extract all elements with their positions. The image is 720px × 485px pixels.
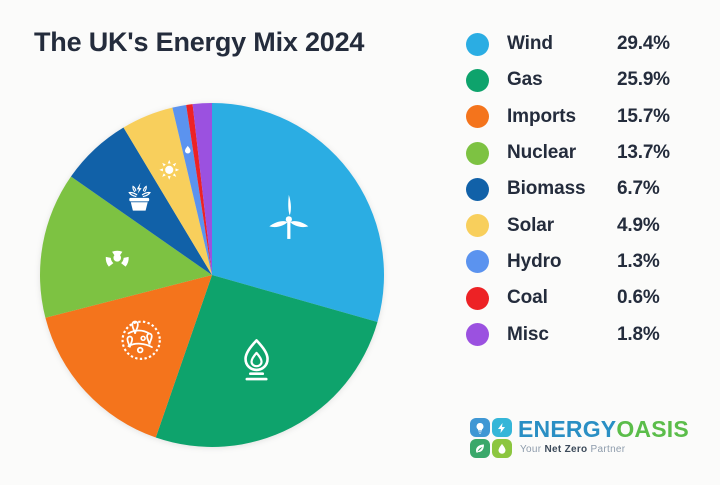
legend-label-solar: Solar [507, 215, 554, 237]
legend-swatch-solar [466, 214, 489, 237]
pie-slice-group: Wind 29.4%Gas 25.9%Imports 15.7%Nuclear … [40, 103, 384, 447]
legend-item-imports[interactable]: Imports 15.7% [466, 99, 706, 135]
legend-value-hydro: 1.3% [617, 251, 660, 273]
legend-label-hydro: Hydro [507, 251, 561, 273]
pie-chart-svg: Wind 29.4%Gas 25.9%Imports 15.7%Nuclear … [33, 96, 391, 454]
legend-item-nuclear[interactable]: Nuclear 13.7% [466, 135, 706, 171]
legend-value-gas: 25.9% [617, 69, 670, 91]
legend-item-wind[interactable]: Wind 29.4% [466, 26, 706, 62]
legend-item-solar[interactable]: Solar 4.9% [466, 207, 706, 243]
page-title: The UK's Energy Mix 2024 [34, 27, 364, 58]
energy-mix-infographic: The UK's Energy Mix 2024 Wind 29.4%Gas 2… [0, 0, 720, 485]
legend-label-nuclear: Nuclear [507, 142, 576, 164]
legend-label-gas: Gas [507, 69, 543, 91]
legend-swatch-wind [466, 33, 489, 56]
legend-swatch-nuclear [466, 142, 489, 165]
legend-value-imports: 15.7% [617, 106, 670, 128]
bulb-tile-icon [470, 418, 490, 437]
legend-label-coal: Coal [507, 287, 548, 309]
tagline-bold: Net Zero [544, 444, 587, 455]
pie-chart: Wind 29.4%Gas 25.9%Imports 15.7%Nuclear … [33, 96, 391, 454]
leaf-tile-icon [470, 439, 490, 458]
logo-wordmark: ENERGYOASIS [518, 416, 689, 443]
legend-item-coal[interactable]: Coal 0.6% [466, 280, 706, 316]
legend-swatch-gas [466, 69, 489, 92]
legend-swatch-misc [466, 323, 489, 346]
logo-tagline: Your Net Zero Partner [520, 444, 625, 455]
legend-item-biomass[interactable]: Biomass 6.7% [466, 171, 706, 207]
drop-tile-icon [492, 439, 512, 458]
legend-value-nuclear: 13.7% [617, 142, 670, 164]
brand-logo[interactable]: ENERGYOASIS Your Net Zero Partner [470, 414, 680, 466]
legend-swatch-biomass [466, 178, 489, 201]
legend-label-misc: Misc [507, 324, 549, 346]
legend-swatch-imports [466, 105, 489, 128]
tagline-suffix: Partner [587, 444, 625, 455]
legend-swatch-coal [466, 287, 489, 310]
bolt-tile-icon [492, 418, 512, 437]
legend-item-gas[interactable]: Gas 25.9% [466, 62, 706, 98]
legend-label-wind: Wind [507, 33, 553, 55]
legend-value-misc: 1.8% [617, 324, 660, 346]
logo-name-primary: ENERGY [518, 416, 616, 442]
legend-value-wind: 29.4% [617, 33, 670, 55]
legend-label-biomass: Biomass [507, 178, 586, 200]
legend: Wind 29.4% Gas 25.9% Imports 15.7% Nucle… [466, 26, 706, 353]
legend-label-imports: Imports [507, 106, 576, 128]
legend-swatch-hydro [466, 250, 489, 273]
legend-value-solar: 4.9% [617, 215, 660, 237]
legend-value-biomass: 6.7% [617, 178, 660, 200]
legend-item-misc[interactable]: Misc 1.8% [466, 316, 706, 352]
legend-value-coal: 0.6% [617, 287, 660, 309]
logo-tile-grid [470, 418, 512, 458]
legend-item-hydro[interactable]: Hydro 1.3% [466, 244, 706, 280]
tagline-prefix: Your [520, 444, 544, 455]
logo-name-secondary: OASIS [616, 416, 689, 442]
